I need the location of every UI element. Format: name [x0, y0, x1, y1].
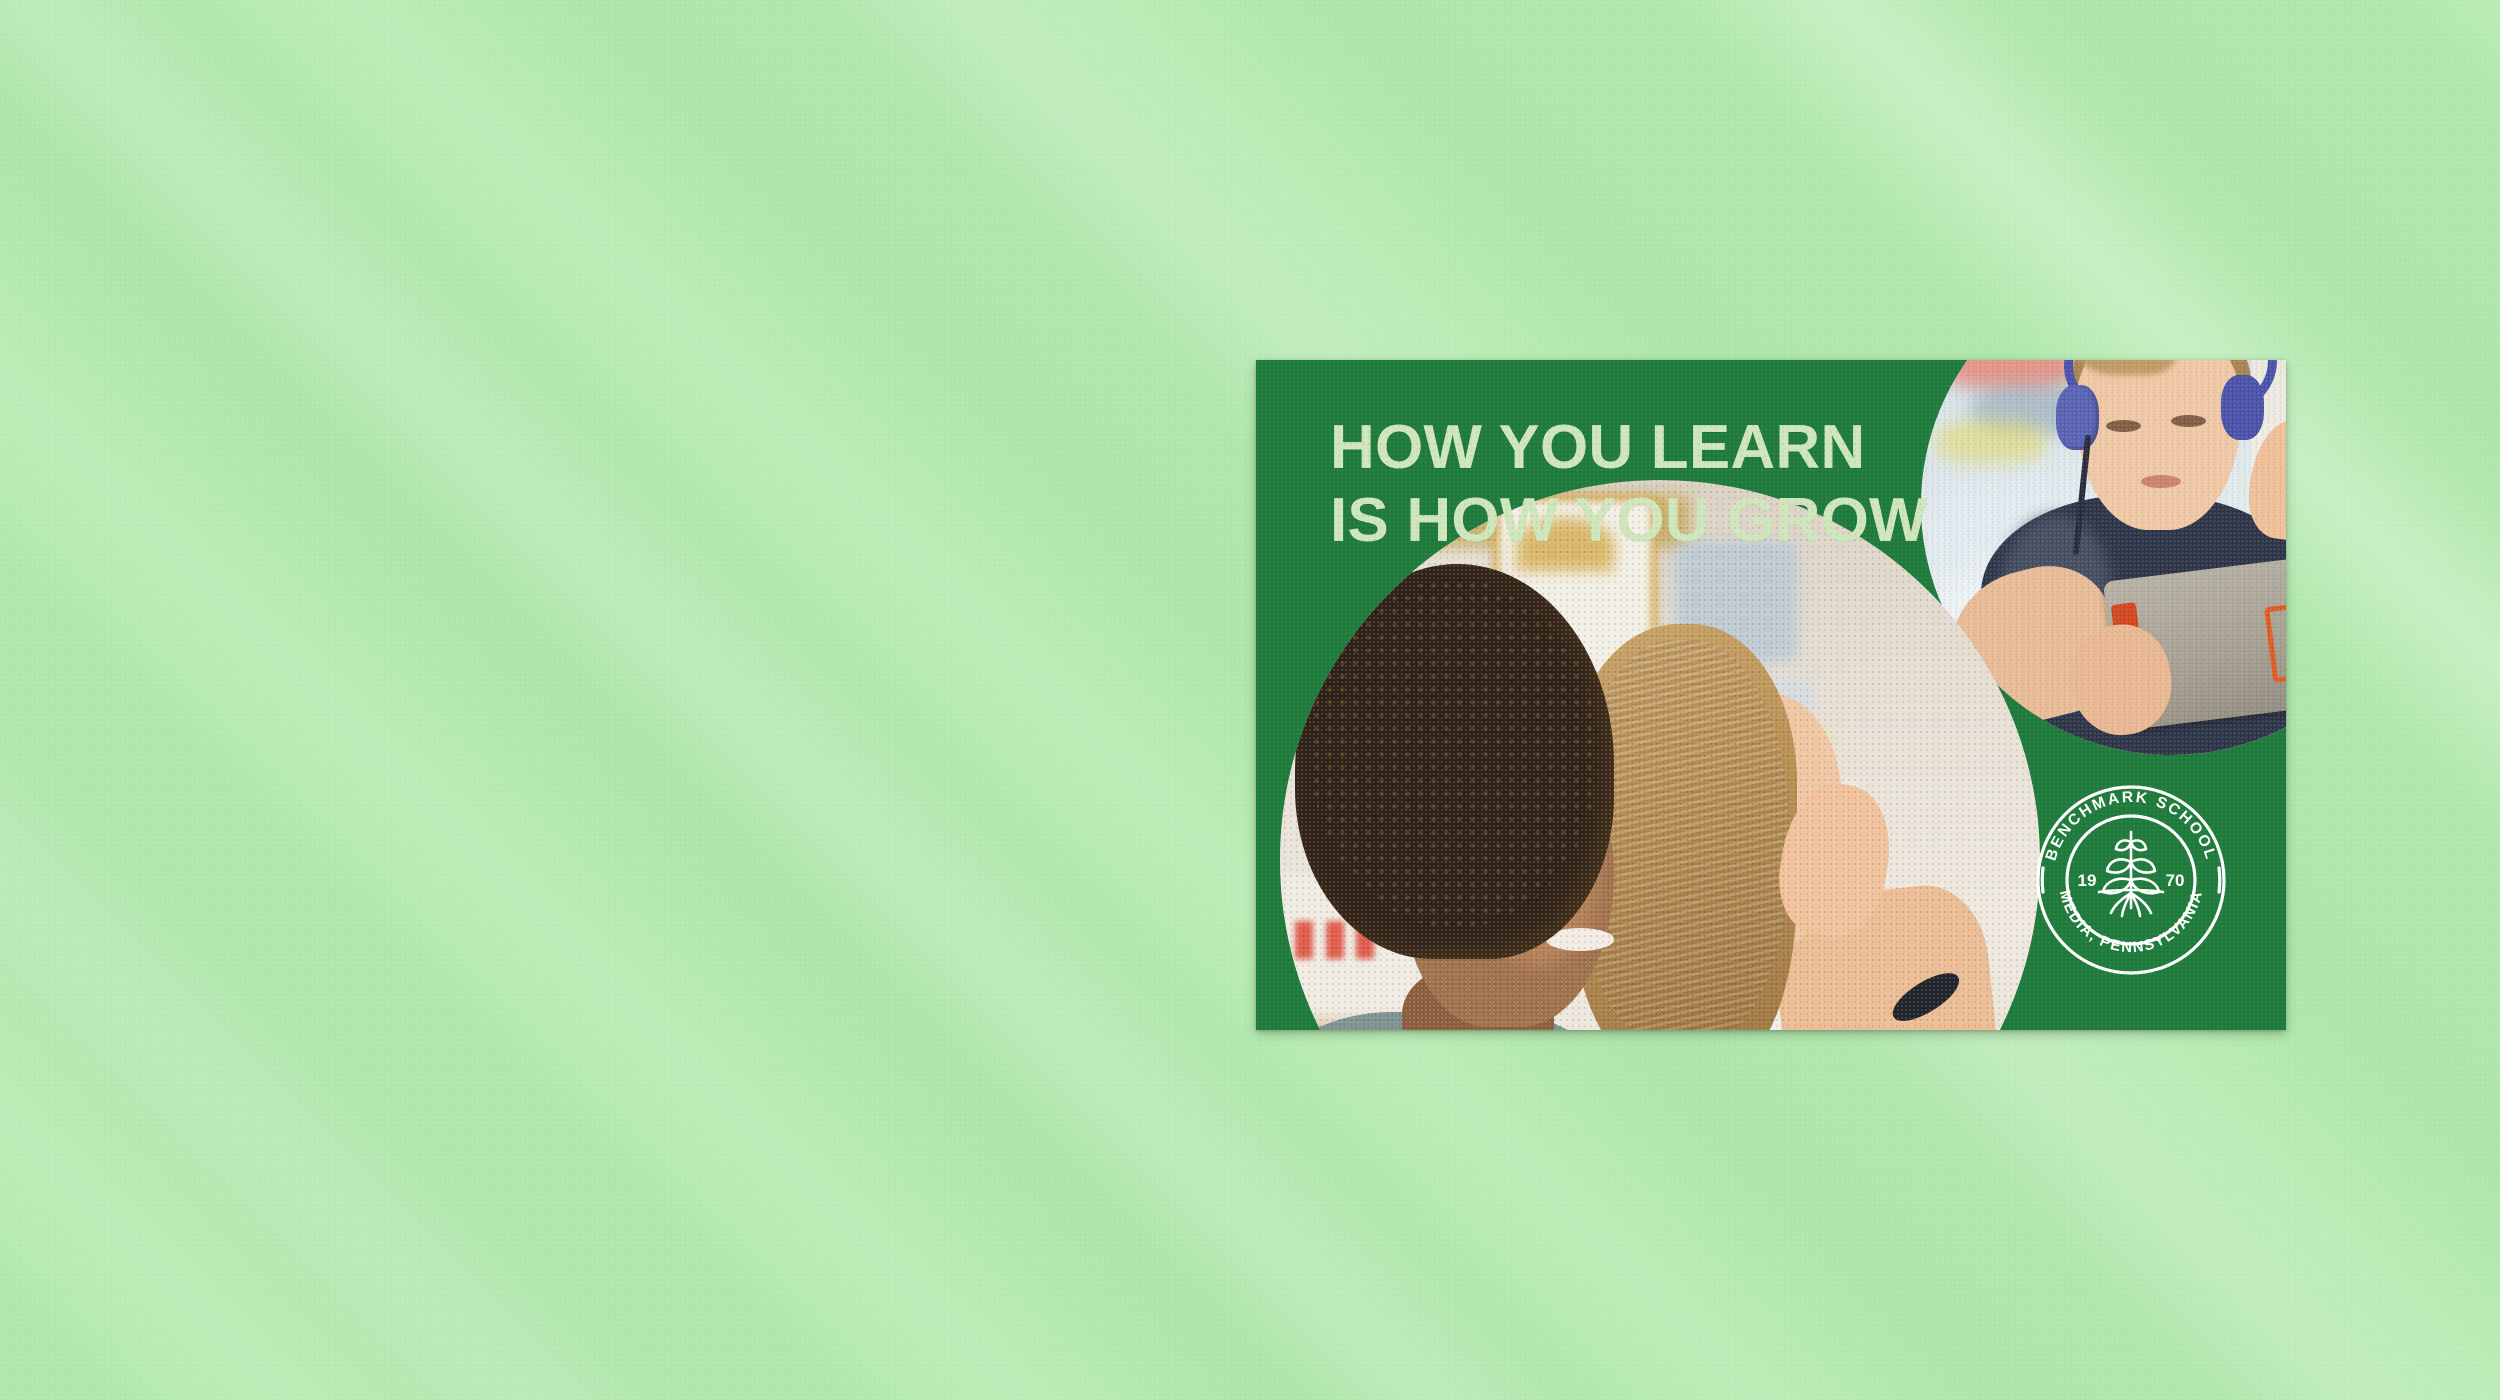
boy-mouth: [2141, 475, 2181, 488]
page-canvas: HOW YOU LEARN IS HOW YOU GROW: [0, 0, 2500, 1400]
benchmark-school-seal[interactable]: BENCHMARK SCHOOL MEDIA, PENNSYLVANIA 19 …: [2031, 780, 2231, 980]
seal-year-left: 19: [2078, 871, 2097, 890]
boy-hair-texture: [1310, 579, 1599, 929]
sprout-emblem: [2099, 832, 2163, 916]
hero-headline: HOW YOU LEARN IS HOW YOU GROW: [1330, 412, 1928, 557]
headline-line-2: IS HOW YOU GROW: [1330, 485, 1928, 558]
tablet-case-accent: [2264, 600, 2286, 683]
headphone-earcup-right: [2221, 375, 2264, 440]
blur-blob: [1936, 420, 2046, 465]
headline-line-1: HOW YOU LEARN: [1330, 412, 1928, 485]
headphone-earcup-left: [2056, 385, 2099, 450]
red-supply-item: [1326, 921, 1344, 959]
hero-card[interactable]: HOW YOU LEARN IS HOW YOU GROW: [1256, 360, 2286, 1030]
photo-two-students-laughing: [1280, 480, 2040, 1030]
seal-year-right: 70: [2166, 871, 2185, 890]
red-supply-item: [1295, 921, 1313, 959]
